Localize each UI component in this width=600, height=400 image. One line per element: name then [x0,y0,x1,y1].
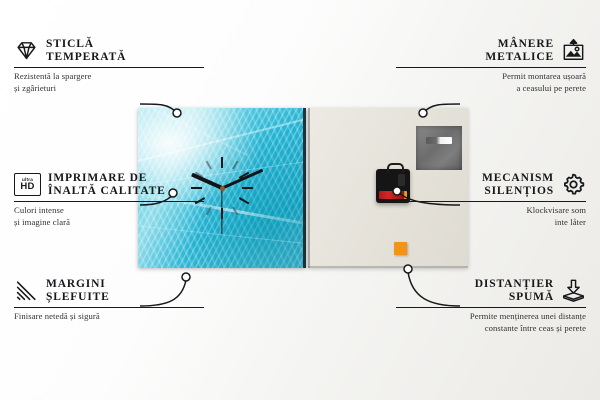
callout-header: STICLĂ TEMPERATĂ [14,38,204,64]
callout-titles: MECANISM SILENȚIOS [482,172,554,198]
callout-rule [14,201,204,203]
callout-title-line2: SPUMĂ [509,291,554,304]
callout-rule [14,67,204,69]
callout-subtitle-line1: Permit montarea ușoară [502,71,586,81]
callout-subtitle: Finisare netedă și sigură [14,311,204,322]
callout-rule [396,201,586,203]
callout-title-line2: ÎNALTĂ CALITATE [48,185,166,198]
callout-header: ultra HD IMPRIMARE DE ÎNALTĂ CALITATE [14,172,204,198]
callout-subtitle: Permite menținerea unei distanțe constan… [396,311,586,334]
callout-mechanism[interactable]: MECANISM SILENȚIOS Klockvisare som inte … [396,172,586,228]
hanging-frame-icon [561,38,586,63]
callout-print[interactable]: ultra HD IMPRIMARE DE ÎNALTĂ CALITATE Cu… [14,172,204,228]
gear-icon [561,172,586,197]
callout-title-line1: STICLĂ [46,38,94,51]
callout-subtitle-line1: Klockvisare som [527,205,587,215]
ultra-hd-icon: ultra HD [14,173,41,196]
callout-subtitle-line2: constante între ceas și perete [485,323,586,333]
callout-handles[interactable]: MÂNERE METALICE Permit montarea ușoară a… [396,38,586,94]
callout-subtitle-line1: Finisare netedă și sigură [14,311,100,321]
callout-subtitle-line2: și zgârieturi [14,83,56,93]
callout-rule [396,307,586,309]
callout-header: DISTANȚIER SPUMĂ [396,278,586,304]
ultra-hd-icon-main: HD [20,182,34,192]
callout-title-line1: DISTANȚIER [475,278,554,291]
callout-titles: IMPRIMARE DE ÎNALTĂ CALITATE [48,172,166,198]
callout-subtitle: Klockvisare som inte låter [396,205,586,228]
callout-rule [396,67,586,69]
callout-title-line1: MÂNERE [498,38,554,51]
infographic-canvas: STICLĂ TEMPERATĂ Rezistentă la spargere … [0,0,600,400]
callout-title-line1: IMPRIMARE DE [48,172,147,185]
callout-titles: DISTANȚIER SPUMĂ [475,278,554,304]
callout-subtitle: Culori intense și imagine clară [14,205,204,228]
foam-spacer-pad [394,242,407,255]
callout-edges[interactable]: MARGINI ȘLEFUITE Finisare netedă și sigu… [14,278,204,323]
callout-subtitle-line1: Culori intense [14,205,64,215]
metal-hanger-plate [416,126,462,170]
callout-titles: MÂNERE METALICE [485,38,554,64]
callout-header: MÂNERE METALICE [396,38,586,64]
panel-shadow [308,266,468,268]
polished-edge-icon [14,278,39,303]
callout-subtitle-line2: a ceasului pe perete [516,83,586,93]
callout-subtitle-line1: Rezistentă la spargere [14,71,91,81]
callout-subtitle-line2: și imagine clară [14,217,70,227]
callout-titles: STICLĂ TEMPERATĂ [46,38,126,64]
callout-title-line1: MARGINI [46,278,106,291]
callout-subtitle-line1: Permite menținerea unei distanțe [470,311,586,321]
callout-titles: MARGINI ȘLEFUITE [46,278,110,304]
down-arrow-plate-icon [561,278,586,303]
callout-subtitle: Permit montarea ușoară a ceasului pe per… [396,71,586,94]
callout-header: MARGINI ȘLEFUITE [14,278,204,304]
glass-edge [303,108,306,268]
callout-header: MECANISM SILENȚIOS [396,172,586,198]
callout-glass[interactable]: STICLĂ TEMPERATĂ Rezistentă la spargere … [14,38,204,94]
callout-title-line2: METALICE [485,51,554,64]
callout-title-line2: SILENȚIOS [484,185,554,198]
panel-edge [308,108,310,268]
callout-subtitle-line2: inte låter [555,217,586,227]
callout-title-line2: TEMPERATĂ [46,51,126,64]
callout-title-line1: MECANISM [482,172,554,185]
callout-rule [14,307,204,309]
callout-spacer[interactable]: DISTANȚIER SPUMĂ Permite menținerea unei… [396,278,586,334]
diamond-icon [14,38,39,63]
callout-title-line2: ȘLEFUITE [46,291,110,304]
hanger-slot [426,137,452,144]
hand-cap [220,186,225,191]
callout-subtitle: Rezistentă la spargere și zgârieturi [14,71,204,94]
